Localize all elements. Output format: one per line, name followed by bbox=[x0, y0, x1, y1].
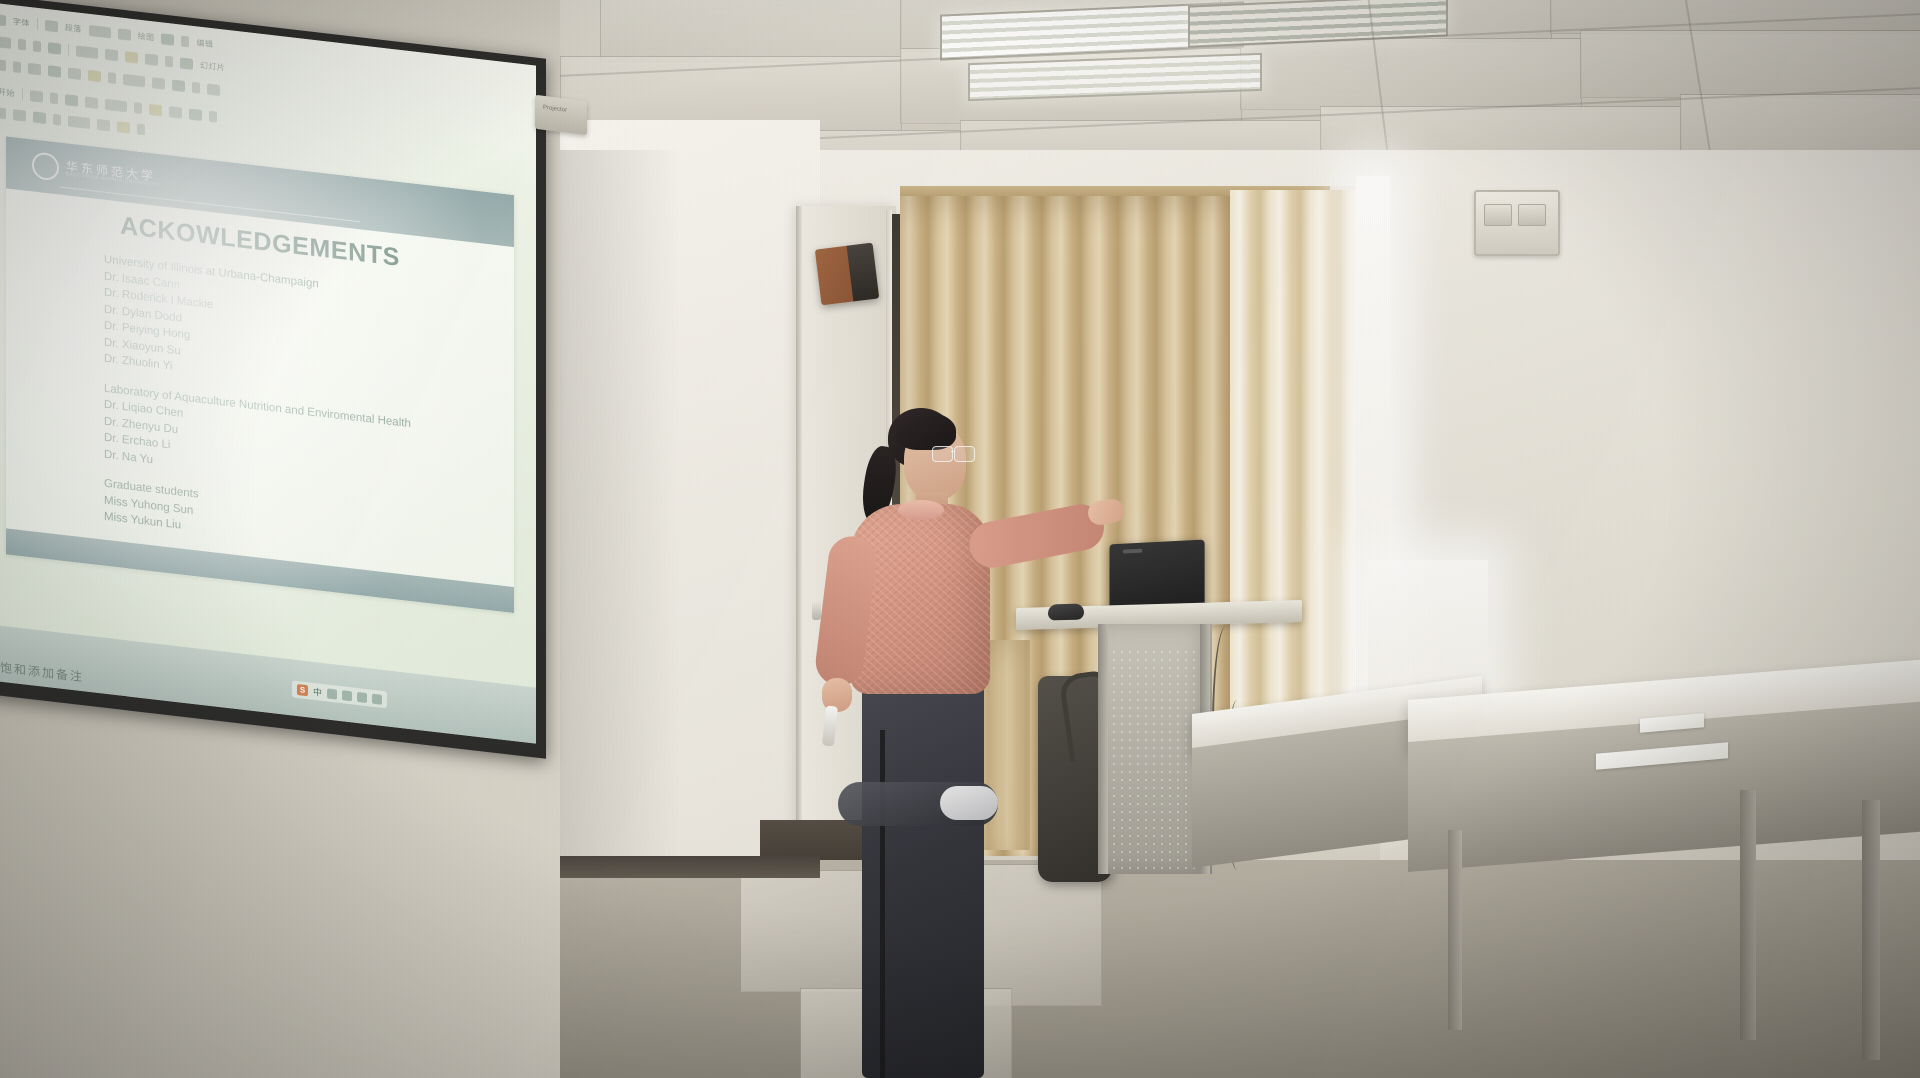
ribbon-separator bbox=[68, 43, 69, 55]
ribbon-icon[interactable] bbox=[53, 114, 61, 126]
wall-shadow bbox=[560, 150, 680, 910]
ribbon-icon[interactable] bbox=[88, 70, 101, 83]
lectern-rail bbox=[1098, 624, 1108, 874]
sogou-ime-icon[interactable]: S bbox=[297, 684, 308, 696]
ribbon-icon[interactable] bbox=[118, 28, 131, 41]
ribbon-icon-highlight[interactable] bbox=[125, 51, 138, 64]
ribbon-icon[interactable] bbox=[65, 94, 78, 107]
ribbon-tab-home[interactable]: 开始 bbox=[0, 86, 15, 99]
table-leg bbox=[1862, 800, 1880, 1060]
ribbon-icon[interactable] bbox=[123, 74, 145, 88]
ribbon-separator bbox=[22, 88, 23, 100]
projector-label: Projector bbox=[543, 105, 567, 114]
ribbon-icon-bold[interactable] bbox=[0, 36, 11, 49]
ribbon-icon[interactable] bbox=[137, 123, 145, 135]
ribbon-icon[interactable] bbox=[85, 96, 98, 109]
laptop-logo bbox=[1123, 549, 1142, 554]
ribbon-icon[interactable] bbox=[152, 77, 165, 90]
ime-mode-label[interactable]: 中 bbox=[313, 685, 322, 699]
ribbon-icon[interactable] bbox=[50, 92, 58, 104]
ribbon-icon[interactable] bbox=[48, 65, 61, 78]
projection-screen: 字体 段落 绘图 编辑 bbox=[0, 0, 546, 759]
laptop-screen[interactable] bbox=[1110, 540, 1205, 611]
lectern-perforation bbox=[1110, 648, 1202, 874]
ribbon-tab-label[interactable]: 绘图 bbox=[138, 30, 155, 43]
sweater-collar bbox=[898, 500, 944, 520]
ime-menu-icon[interactable] bbox=[372, 693, 382, 704]
ribbon-icon[interactable] bbox=[28, 63, 41, 76]
lens-left bbox=[932, 446, 953, 462]
ribbon-tab-label[interactable]: 字体 bbox=[13, 16, 30, 29]
ribbon-icon[interactable] bbox=[97, 119, 110, 132]
ribbon-icon-shape[interactable] bbox=[145, 53, 158, 66]
ribbon-icon[interactable] bbox=[45, 19, 58, 32]
right-hand bbox=[1087, 498, 1126, 527]
lens-right bbox=[954, 446, 975, 462]
power-outlet[interactable] bbox=[1474, 190, 1560, 256]
ribbon-separator bbox=[37, 18, 38, 30]
ribbon-icon[interactable] bbox=[172, 80, 185, 93]
ribbon-icon[interactable] bbox=[0, 59, 6, 71]
ribbon-icon[interactable] bbox=[68, 115, 90, 129]
ribbon-icon[interactable] bbox=[13, 61, 21, 73]
ribbon-icon[interactable] bbox=[169, 106, 182, 119]
ribbon-icon[interactable] bbox=[209, 110, 217, 122]
hair-front bbox=[896, 412, 956, 450]
ceiling-tile bbox=[1680, 94, 1920, 156]
ribbon-icon[interactable] bbox=[0, 107, 6, 119]
ceiling-tile bbox=[600, 0, 902, 62]
glasses-bridge bbox=[951, 451, 955, 452]
slide-body: University of Illinois at Urbana-Champai… bbox=[104, 252, 496, 571]
outlet-socket[interactable] bbox=[1518, 204, 1546, 226]
floor bbox=[560, 860, 1920, 1078]
right-arm bbox=[966, 500, 1108, 571]
ribbon-icon[interactable] bbox=[189, 108, 202, 121]
ribbon-icon-italic[interactable] bbox=[18, 38, 26, 50]
ribbon-icon[interactable] bbox=[13, 109, 26, 122]
ribbon-icon-arrange[interactable] bbox=[180, 57, 193, 70]
table-leg bbox=[1740, 790, 1756, 1040]
ribbon-icon[interactable] bbox=[30, 90, 43, 103]
ribbon-icon[interactable] bbox=[89, 24, 111, 38]
presentation-slide: 华东师范大学 EAST CHINA NORMAL UNIVERSITY ACKO… bbox=[6, 136, 514, 613]
logo-ring-icon bbox=[32, 151, 59, 181]
taskbar-caption: 饱和添加备注 bbox=[0, 659, 84, 686]
ribbon-icon[interactable] bbox=[192, 82, 200, 94]
projected-desktop: 字体 段落 绘图 编辑 bbox=[0, 3, 536, 744]
outlet-socket[interactable] bbox=[1484, 204, 1512, 226]
lecture-room-photo: 字体 段落 绘图 编辑 bbox=[0, 0, 1920, 1078]
shoe bbox=[940, 786, 998, 820]
ribbon-tab-label[interactable]: 编辑 bbox=[196, 37, 213, 50]
ribbon-icon[interactable] bbox=[207, 84, 220, 97]
ribbon-icon-underline[interactable] bbox=[33, 40, 41, 52]
ime-settings-icon[interactable] bbox=[357, 691, 367, 702]
ime-toolbox-icon[interactable] bbox=[342, 690, 352, 701]
ribbon-icon-align[interactable] bbox=[76, 45, 98, 59]
ribbon-icon-font-color[interactable] bbox=[48, 42, 61, 55]
presenter-clicker[interactable] bbox=[822, 705, 838, 746]
ribbon-icon[interactable] bbox=[108, 72, 116, 84]
ribbon-icon[interactable] bbox=[149, 103, 162, 116]
ceiling-tile bbox=[1580, 30, 1920, 98]
table-leg bbox=[1448, 830, 1462, 1030]
ribbon-icon[interactable] bbox=[161, 33, 174, 46]
ceiling-tile bbox=[1240, 38, 1582, 110]
ribbon-icon[interactable] bbox=[117, 121, 130, 134]
ribbon-icon[interactable] bbox=[181, 35, 189, 47]
ribbon-icon-line[interactable] bbox=[165, 55, 173, 67]
projector-mount: Projector bbox=[535, 95, 587, 135]
mouse[interactable] bbox=[1048, 603, 1084, 620]
ribbon-tab-label[interactable]: 段落 bbox=[65, 22, 82, 35]
wall-speaker bbox=[815, 243, 879, 306]
ribbon-icon-bullets[interactable] bbox=[105, 48, 118, 61]
door-frame-edge bbox=[796, 206, 802, 886]
baseboard bbox=[560, 856, 820, 878]
ribbon-icon[interactable] bbox=[33, 111, 46, 124]
ribbon-icon[interactable] bbox=[105, 98, 127, 112]
ribbon-icon[interactable] bbox=[134, 102, 142, 114]
eyeglasses bbox=[932, 446, 976, 461]
ribbon-icon[interactable] bbox=[68, 67, 81, 80]
ribbon-icon[interactable] bbox=[0, 14, 6, 26]
ribbon-group-label: 幻灯片 bbox=[200, 59, 225, 73]
ime-keyboard-icon[interactable] bbox=[327, 688, 337, 699]
